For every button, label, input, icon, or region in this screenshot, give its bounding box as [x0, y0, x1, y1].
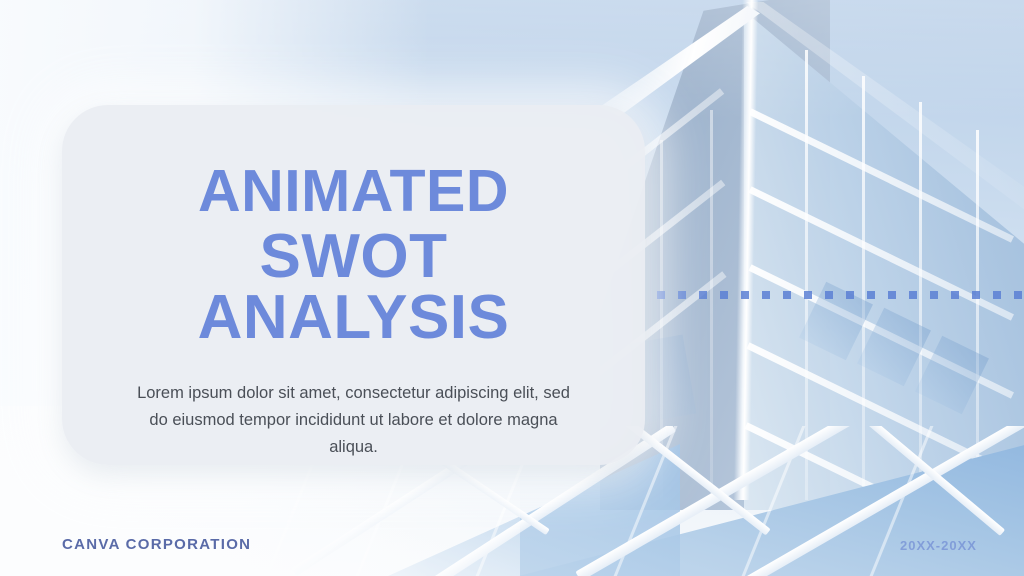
dash-segment — [972, 291, 980, 299]
dash-segment — [993, 291, 1001, 299]
footer-brand-label: CANVA CORPORATION — [62, 536, 251, 553]
dash-segment — [783, 291, 791, 299]
dash-segment — [930, 291, 938, 299]
dash-segment — [825, 291, 833, 299]
dash-segment — [699, 291, 707, 299]
card-content: ANIMATED SWOT ANALYSIS Lorem ipsum dolor… — [62, 163, 645, 460]
dash-segment — [720, 291, 728, 299]
footer-date-label: 20XX-20XX — [900, 538, 977, 553]
dash-segment — [909, 291, 917, 299]
title-card: ANIMATED SWOT ANALYSIS Lorem ipsum dolor… — [62, 105, 645, 465]
page-title-line-2: SWOT ANALYSIS — [96, 227, 611, 349]
dash-segment — [741, 291, 749, 299]
dash-segment — [804, 291, 812, 299]
dash-segment — [1014, 291, 1022, 299]
page-title-line-1: ANIMATED — [96, 163, 611, 221]
presentation-slide: ANIMATED SWOT ANALYSIS Lorem ipsum dolor… — [0, 0, 1024, 576]
dash-segment — [762, 291, 770, 299]
dash-segment — [888, 291, 896, 299]
subtitle-text: Lorem ipsum dolor sit amet, consectetur … — [129, 380, 579, 460]
dashed-divider — [657, 291, 1024, 299]
dash-segment — [867, 291, 875, 299]
dash-segment — [951, 291, 959, 299]
dash-segment — [846, 291, 854, 299]
dash-segment — [678, 291, 686, 299]
